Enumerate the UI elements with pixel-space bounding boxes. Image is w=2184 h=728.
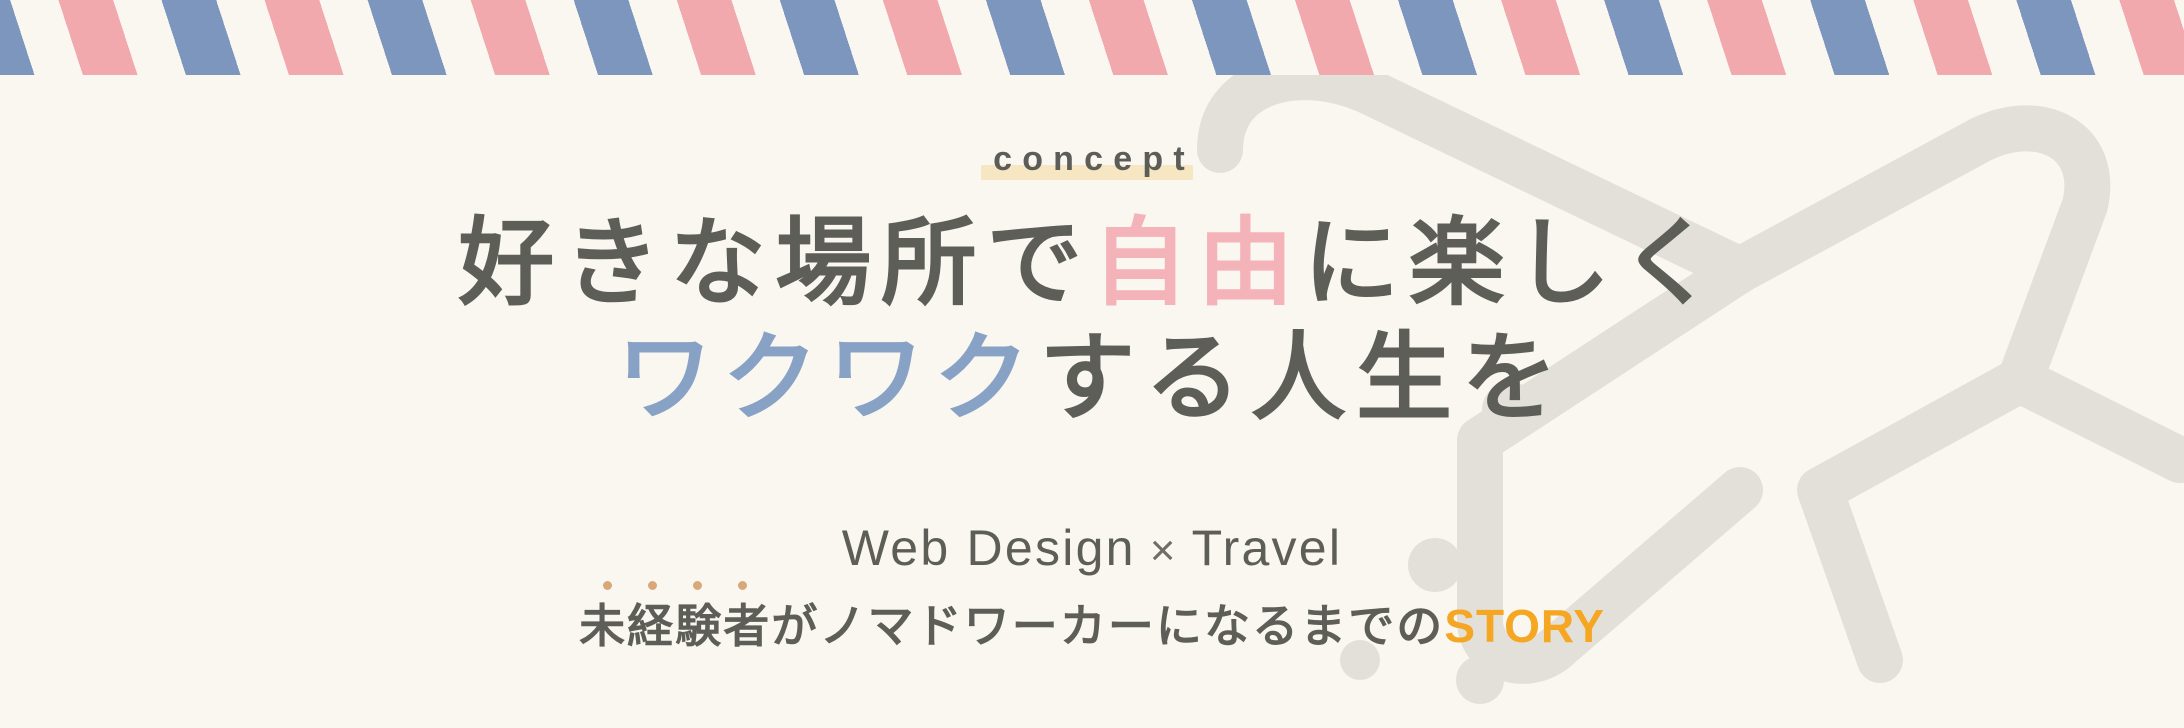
concept-hero-banner: concept 好きな場所で自由に楽しく ワクワクする人生を Web Desig…: [0, 0, 2184, 728]
tagline-right: Travel: [1192, 520, 1343, 576]
story-accent-text: STORY: [1444, 603, 1605, 649]
headline-accent-wakuwaku: ワクワク: [617, 325, 1039, 432]
headline-line-1: 好きな場所で自由に楽しく: [458, 206, 1725, 321]
stripe-pattern: [0, 0, 2184, 75]
eyebrow-label: concept: [989, 140, 1195, 178]
emphasis-dot: [603, 581, 612, 590]
headline-line1-post: に楽しく: [1303, 210, 1725, 317]
emphasis-dot: [648, 581, 657, 590]
headline-line1-pre: 好きな場所で: [458, 210, 1092, 317]
headline-line-2: ワクワクする人生を: [458, 321, 1725, 436]
tagline: Web Design×Travel: [842, 523, 1342, 573]
story-emphasis-text: 未経験者: [579, 600, 771, 652]
airmail-stripe-band: [0, 0, 2184, 75]
emphasis-dot: [738, 581, 747, 590]
headline-accent-jiyuu: 自由: [1092, 210, 1303, 317]
emphasis-dot: [693, 581, 702, 590]
page-title: 好きな場所で自由に楽しく ワクワクする人生を: [458, 206, 1725, 436]
story-middle-text: がノマドワーカーになるまでの: [771, 603, 1444, 649]
eyebrow-label-wrap: concept: [989, 142, 1195, 176]
story-emphasis-wrap: 未経験者: [579, 603, 771, 649]
story-subtitle: 未経験者 がノマドワーカーになるまでのSTORY: [579, 603, 1605, 649]
headline-line2-post: する人生を: [1039, 325, 1567, 432]
cross-icon: ×: [1136, 526, 1192, 575]
emphasis-dots: [579, 581, 771, 590]
tagline-left: Web Design: [842, 520, 1136, 576]
hero-content: concept 好きな場所で自由に楽しく ワクワクする人生を Web Desig…: [0, 0, 2184, 728]
